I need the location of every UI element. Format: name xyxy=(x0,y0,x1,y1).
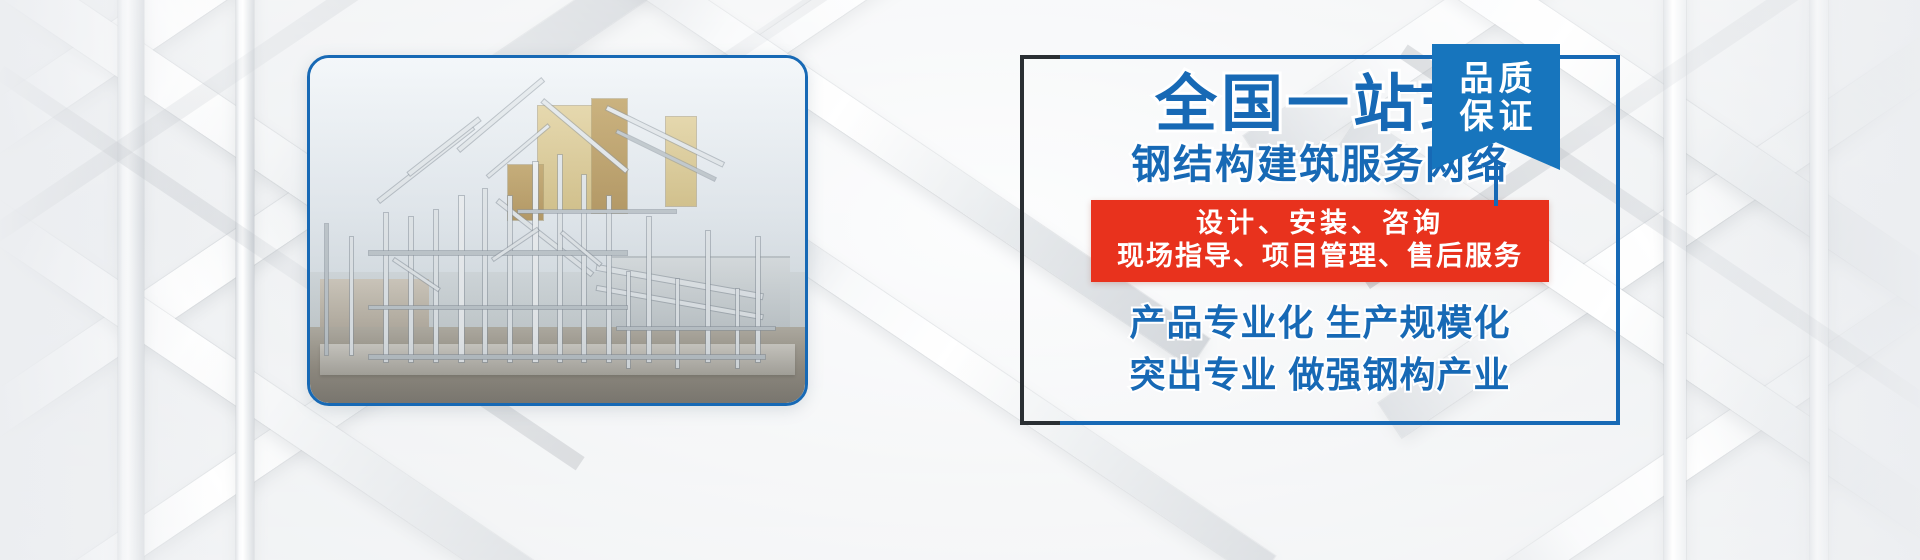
badge-connector-tail xyxy=(1494,160,1498,206)
slogan-line-1: 产品专业化 生产规模化 xyxy=(1129,298,1510,348)
photo-card xyxy=(307,55,808,406)
services-line-2: 现场指导、项目管理、售后服务 xyxy=(1117,240,1523,273)
badge-line-2: 保证 xyxy=(1460,98,1538,136)
background-left-fade xyxy=(0,0,210,560)
services-banner: 设计、安装、咨询 现场指导、项目管理、售后服务 xyxy=(1091,200,1549,282)
background-overlay xyxy=(0,0,1920,560)
background-steel-structure xyxy=(0,0,1920,560)
background-right-fade xyxy=(1720,0,1920,560)
construction-photo xyxy=(310,58,805,403)
frame-border-bottom xyxy=(1020,421,1620,425)
frame-border-right xyxy=(1616,55,1620,425)
banner-root: 全国一站式 钢结构建筑服务网络 设计、安装、咨询 现场指导、项目管理、售后服务 … xyxy=(0,0,1920,560)
photo-vignette xyxy=(310,58,805,403)
services-line-1: 设计、安装、咨询 xyxy=(1117,207,1523,240)
badge-line-1: 品质 xyxy=(1460,60,1538,98)
frame-corner-accent-bottom xyxy=(1020,421,1060,425)
slogan-line-2: 突出专业 做强钢构产业 xyxy=(1129,350,1510,400)
